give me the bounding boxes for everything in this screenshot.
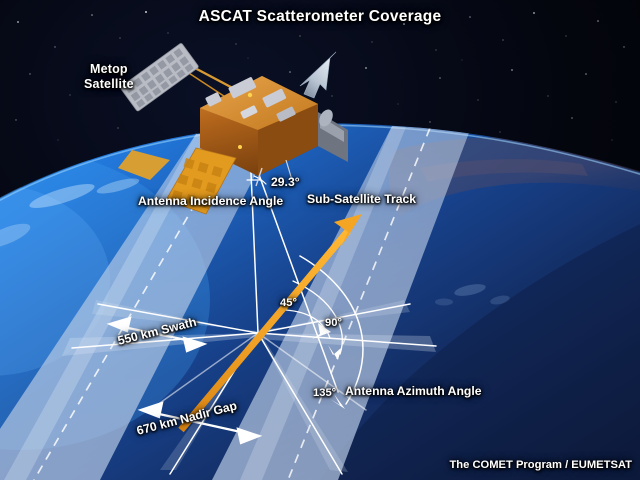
scene-layer [0, 0, 640, 480]
diagram-canvas: ASCAT Scatterometer Coverage Metop Satel… [0, 0, 640, 480]
